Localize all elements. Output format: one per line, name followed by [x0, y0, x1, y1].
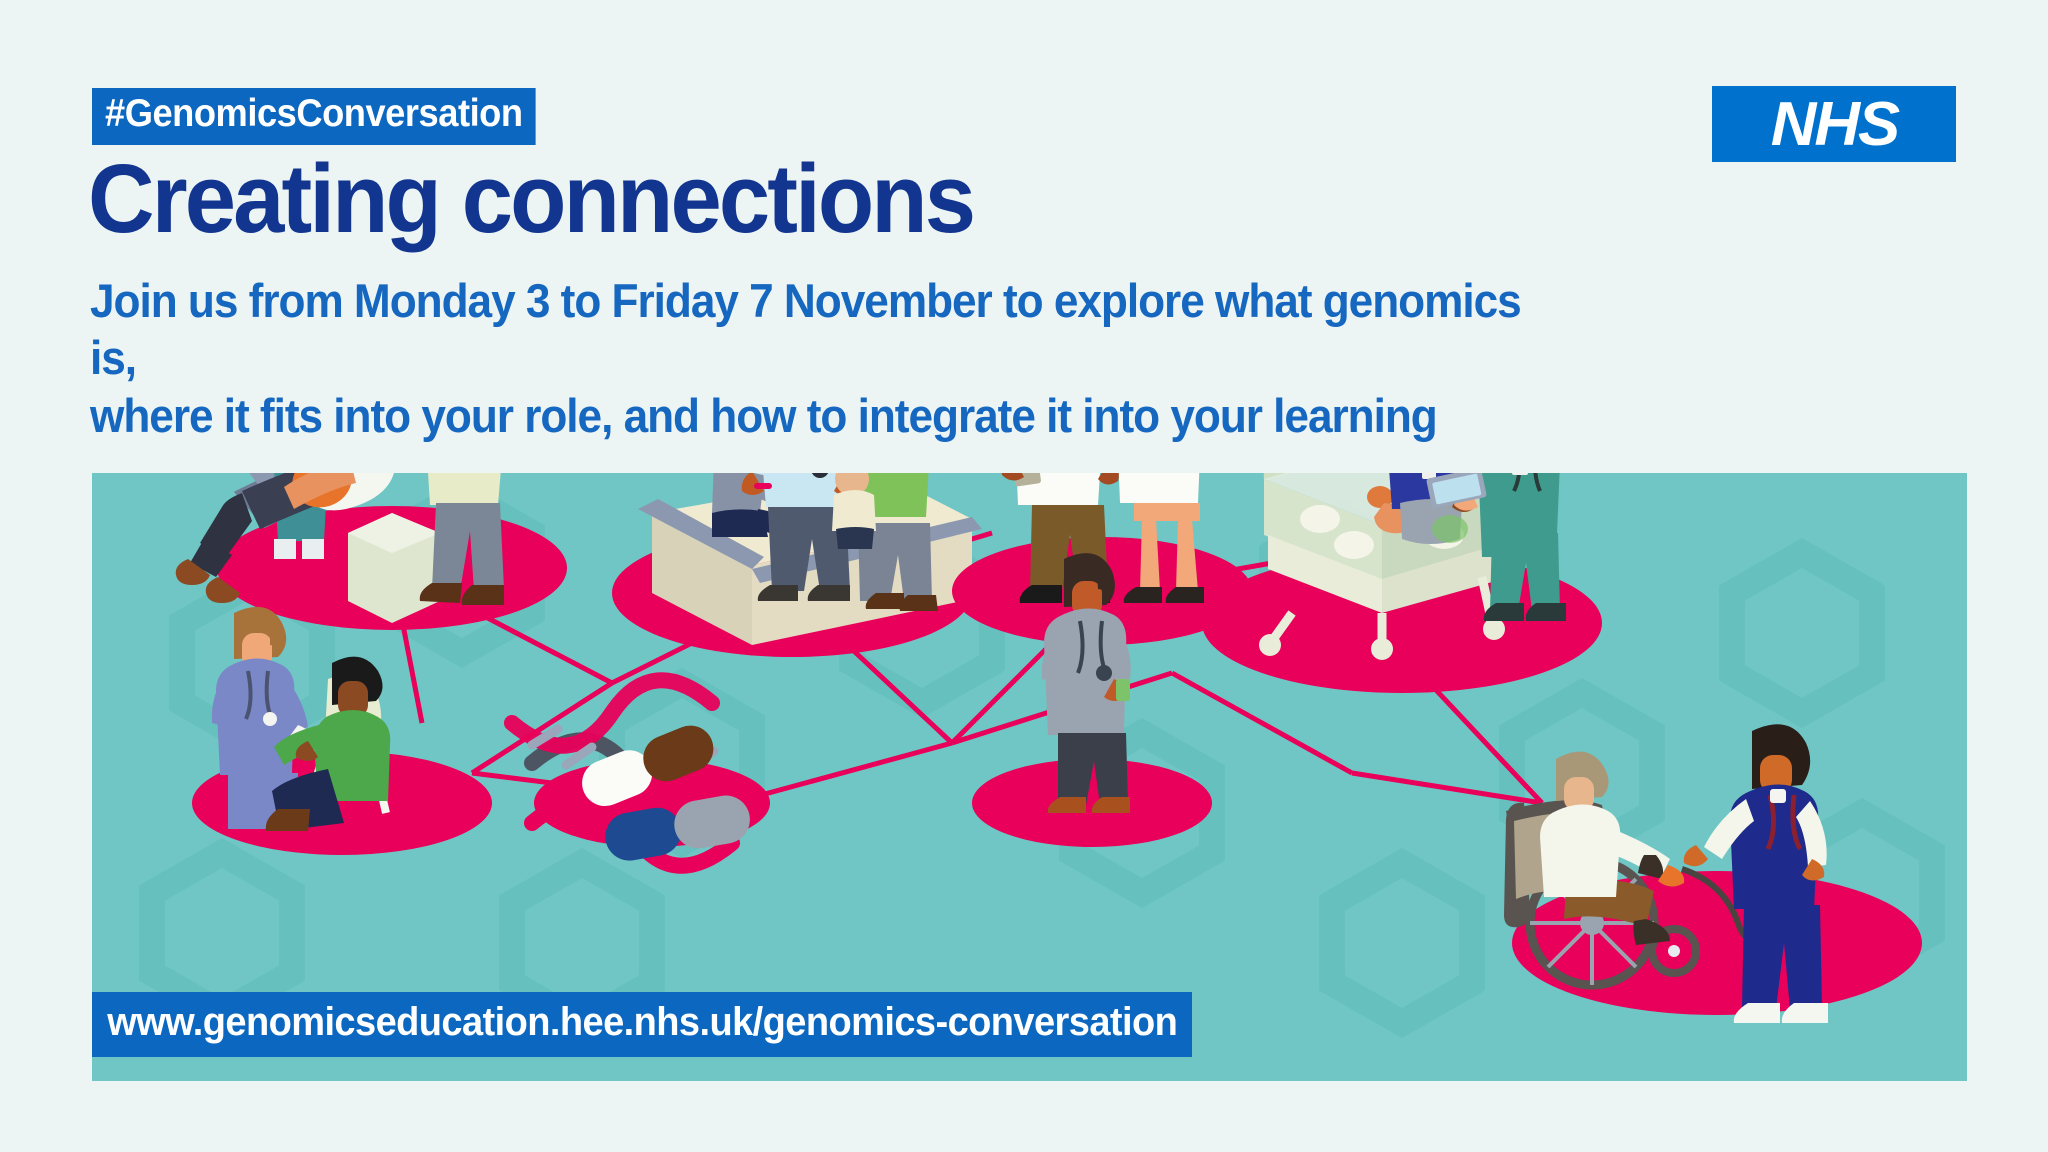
subtitle-line-1: Join us from Monday 3 to Friday 7 Novemb… [90, 274, 1521, 384]
illustration-svg [92, 473, 1967, 1081]
nhs-logo: NHS [1712, 86, 1956, 162]
subtitle-line-2: where it fits into your role, and how to… [90, 387, 1556, 444]
website-url-banner[interactable]: www.genomicseducation.hee.nhs.uk/genomic… [92, 992, 1192, 1057]
poster-canvas: #GenomicsConversation Creating connectio… [0, 0, 2048, 1152]
page-title: Creating connections [88, 150, 973, 247]
hashtag-banner: #GenomicsConversation [92, 88, 536, 145]
page-subtitle: Join us from Monday 3 to Friday 7 Novemb… [90, 272, 1556, 444]
illustration-panel [92, 473, 1967, 1081]
nhs-logo-text: NHS [1770, 89, 1897, 160]
